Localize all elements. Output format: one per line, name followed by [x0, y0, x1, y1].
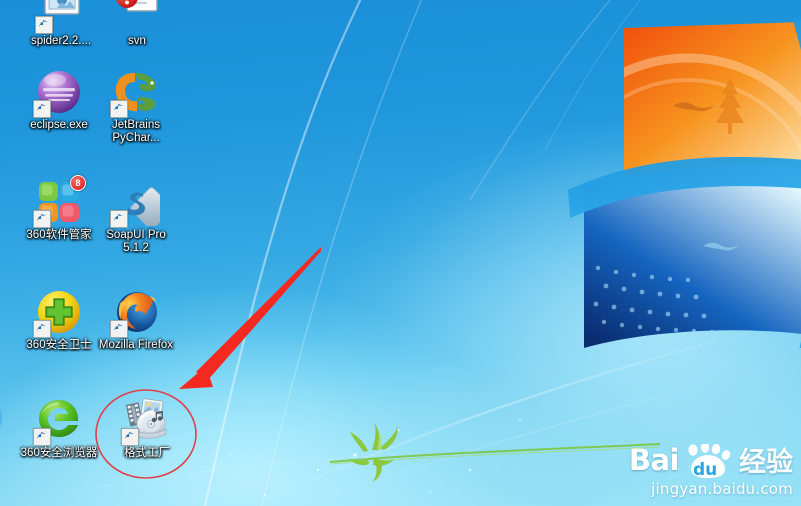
watermark-cn-text: 经验 — [739, 440, 793, 479]
qq-icon — [0, 288, 7, 336]
watermark-url: jingyan.baidu.com — [629, 480, 793, 498]
desktop-icon-qq-partial[interactable]: Q — [0, 288, 22, 352]
shortcut-arrow-icon — [110, 320, 128, 338]
icon-label: svn — [98, 35, 176, 48]
shortcut-arrow-icon — [110, 100, 128, 118]
icon-label: Mozilla Firefox — [97, 339, 175, 352]
icon-label: 를 — [0, 447, 22, 460]
jetbrains-pycharm-icon — [112, 68, 160, 116]
svn-error-icon — [113, 0, 161, 32]
shortcut-arrow-icon — [33, 320, 51, 338]
generic-file-shortcut-icon — [37, 0, 85, 32]
icon-label: SoapUI Pro 5.1.2 — [97, 229, 175, 255]
shortcut-arrow-icon — [33, 428, 51, 446]
shortcut-arrow-icon — [33, 210, 51, 228]
icon-label: Q — [0, 339, 22, 352]
foxmail-icon — [0, 62, 7, 110]
soapui-pro-icon — [112, 178, 160, 226]
desktop-icon-spider[interactable]: spider2.2.... — [22, 0, 100, 48]
desktop-icon-soapui-pro[interactable]: SoapUI Pro 5.1.2 — [97, 178, 175, 255]
windows-logo-wallpaper — [498, 18, 801, 348]
shortcut-arrow-icon — [121, 428, 139, 446]
desktop-background[interactable]: spider2.2.... svn — [0, 0, 801, 506]
desktop-icon-pycharm[interactable]: JetBrains PyChar... — [97, 68, 175, 145]
shortcut-arrow-icon — [110, 210, 128, 228]
360-software-manager-icon: 8 — [35, 178, 83, 226]
icon-label: spider2.2.... — [22, 35, 100, 48]
desktop-icon-360-safeguard[interactable]: 360安全卫士 — [20, 288, 98, 352]
icon-label: il — [0, 113, 22, 126]
icon-label: 360软件管家 — [20, 229, 98, 242]
360-safeguard-icon — [35, 288, 83, 336]
desktop-icon-firefox[interactable]: Mozilla Firefox — [97, 288, 175, 352]
desktop-icon-format-factory[interactable]: 格式工厂 — [108, 396, 186, 460]
baidu-jingyan-watermark: Bai du 经验 jingyan.baidu.com — [629, 440, 793, 498]
mozilla-firefox-icon — [112, 288, 160, 336]
watermark-bai-text: Bai — [629, 443, 679, 477]
watermark-brand: Bai du 经验 — [629, 440, 793, 479]
red-arrow-pointer — [179, 247, 321, 389]
eclipse-icon — [35, 68, 83, 116]
format-factory-icon — [123, 396, 171, 444]
desktop-icon-eclipse[interactable]: eclipse.exe — [20, 68, 98, 132]
partial-cut-icon — [0, 396, 7, 444]
desktop-icon-360-software-manager[interactable]: 8 360软件管家 — [20, 178, 98, 242]
desktop-icon-foxmail-partial[interactable]: il — [0, 62, 22, 126]
shortcut-arrow-icon — [33, 100, 51, 118]
grass-sprig-wallpaper — [330, 398, 660, 488]
notification-badge: 8 — [70, 175, 86, 191]
desktop-icon-360-secure-browser[interactable]: 360安全浏览器 — [20, 396, 98, 460]
icon-label: 360安全浏览器 — [20, 447, 98, 460]
desktop-icon-partial-bottom-left[interactable]: 를 — [0, 396, 22, 460]
icon-label: 360安全卫士 — [20, 339, 98, 352]
watermark-bear-paw-du-icon: du — [680, 444, 736, 476]
svg-text:du: du — [693, 460, 717, 478]
desktop-icon-svn[interactable]: svn — [98, 0, 176, 48]
icon-label: 格式工厂 — [108, 447, 186, 460]
shortcut-arrow-icon — [35, 16, 53, 34]
360-secure-browser-icon — [35, 396, 83, 444]
icon-label: eclipse.exe — [20, 119, 98, 132]
icon-label: JetBrains PyChar... — [97, 119, 175, 145]
